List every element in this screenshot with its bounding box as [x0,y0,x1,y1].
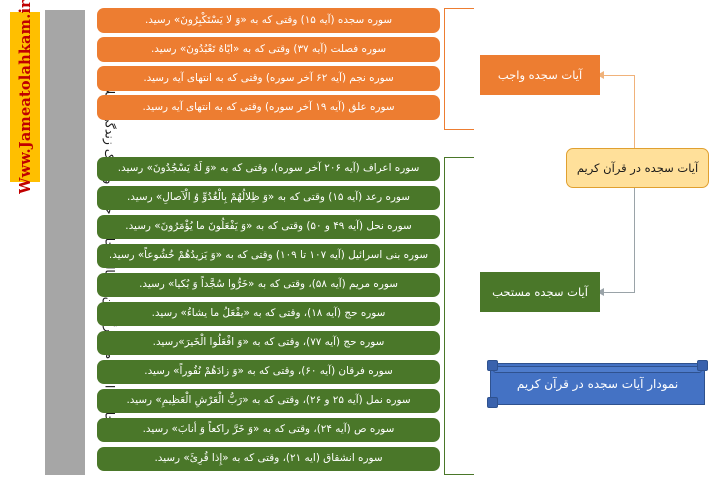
verse-row-text: سوره حج (آیه ۱۸)، وقتی که به «یفْعَلُ ما… [152,308,386,320]
category-label-wajib-text: آیات سجده واجب [498,68,582,82]
verse-row-text: سوره حج (آیه ۷۷)، وقتی که به «وَ افْعَلُ… [153,337,385,349]
connector-wajib-horizontal [604,75,635,76]
verse-row-text: سوره سجده (آیه ۱۵) وقتی که به «وَ لا یَس… [145,15,392,27]
plaque-top-bar [493,366,702,373]
category-label-wajib[interactable]: آیات سجده واجب [480,55,600,95]
verse-row[interactable]: سوره رعد (آیه ۱۵) وقتی که به «وَ ظِلالُه… [97,186,440,210]
verse-row[interactable]: سوره اعراف (آیه ۲۰۶ آخر سوره)، وقتی که ب… [97,157,440,181]
verse-row-text: سوره بنی اسرائیل (آیه ۱۰۷ تا ۱۰۹) وقتی ک… [109,250,428,262]
bracket-wajib [444,8,474,130]
verse-row[interactable]: سوره بنی اسرائیل (آیه ۱۰۷ تا ۱۰۹) وقتی ک… [97,244,440,268]
verse-row[interactable]: سوره مریم (آیه ۵۸)، وقتی که به «خَرُّوا … [97,273,440,297]
plaque-corner-handle-top-right[interactable] [697,360,708,371]
branding-website-badge[interactable]: Www.Jameatolahkam.ir [10,12,40,182]
verse-row-text: سوره مریم (آیه ۵۸)، وقتی که به «خَرُّوا … [139,279,398,291]
category-label-mostahab-text: آیات سجده مستحب [492,285,588,299]
plaque-corner-handle-top-left[interactable] [487,360,498,371]
verse-row-text: سوره رعد (آیه ۱۵) وقتی که به «وَ ظِلالُه… [127,192,410,204]
verse-row-text: سوره انشقاق (ایه ۲۱)، وقتی که به «إِذا ق… [154,453,382,465]
verse-row-text: سوره علق (آیه ۱۹ آخر سوره) وقتی که به ان… [142,102,394,114]
connector-wajib-vertical [634,75,635,149]
connector-mostahab-vertical [634,188,635,292]
verse-row-text: سوره اعراف (آیه ۲۰۶ آخر سوره)، وقتی که ب… [118,163,420,175]
center-node[interactable]: آیات سجده در قرآن کریم [566,148,709,188]
bracket-mostahab [444,157,474,475]
center-node-text: آیات سجده در قرآن کریم [577,161,698,175]
verse-row[interactable]: سوره فرقان (آیه ۶۰)، وقتی که به «وَ زادَ… [97,360,440,384]
branding-strip: (جامعة الاحکام) بزرگترین پورتال مجازی اح… [45,10,85,475]
plaque-corner-handle-bottom-left[interactable] [487,397,498,408]
diagram-title-text: نمودار آیات سجده در قرآن کریم [517,377,678,391]
verse-row-text: سوره نمل (آیه ۲۵ و ۲۶)، وقتی که به «رَبُ… [126,395,410,407]
verse-row[interactable]: سوره فصلت (آیه ۳۷) وقتی که به «ایّاهُ تَ… [97,37,440,62]
branding-website-text: Www.Jameatolahkam.ir [17,0,34,194]
verse-row[interactable]: سوره ص (آیه ۲۴)، وقتی که به «وَ خَرَّ را… [97,418,440,442]
verse-row-text: سوره نحل (آیه ۴۹ و ۵۰) وقتی که به «وَ یَ… [125,221,411,233]
verse-row[interactable]: سوره انشقاق (ایه ۲۱)، وقتی که به «إِذا ق… [97,447,440,471]
diagram-title-plaque[interactable]: نمودار آیات سجده در قرآن کریم [490,363,705,405]
verse-row-text: سوره فرقان (آیه ۶۰)، وقتی که به «وَ زادَ… [144,366,392,378]
verse-row-text: سوره ص (آیه ۲۴)، وقتی که به «وَ خَرَّ را… [143,424,395,436]
verse-row[interactable]: سوره حج (آیه ۷۷)، وقتی که به «وَ افْعَلُ… [97,331,440,355]
verse-row-text: سوره فصلت (آیه ۳۷) وقتی که به «ایّاهُ تَ… [151,44,386,56]
verse-row[interactable]: سوره نحل (آیه ۴۹ و ۵۰) وقتی که به «وَ یَ… [97,215,440,239]
verse-row[interactable]: سوره نجم (آیه ۶۲ آخر سوره) وقتی که به ان… [97,66,440,91]
verse-row-text: سوره نجم (آیه ۶۲ آخر سوره) وقتی که به ان… [143,73,393,85]
category-label-mostahab[interactable]: آیات سجده مستحب [480,272,600,312]
verse-row[interactable]: سوره علق (آیه ۱۹ آخر سوره) وقتی که به ان… [97,95,440,120]
verse-row[interactable]: سوره سجده (آیه ۱۵) وقتی که به «وَ لا یَس… [97,8,440,33]
connector-mostahab-horizontal [604,292,635,293]
verse-row[interactable]: سوره نمل (آیه ۲۵ و ۲۶)، وقتی که به «رَبُ… [97,389,440,413]
verse-row[interactable]: سوره حج (آیه ۱۸)، وقتی که به «یفْعَلُ ما… [97,302,440,326]
